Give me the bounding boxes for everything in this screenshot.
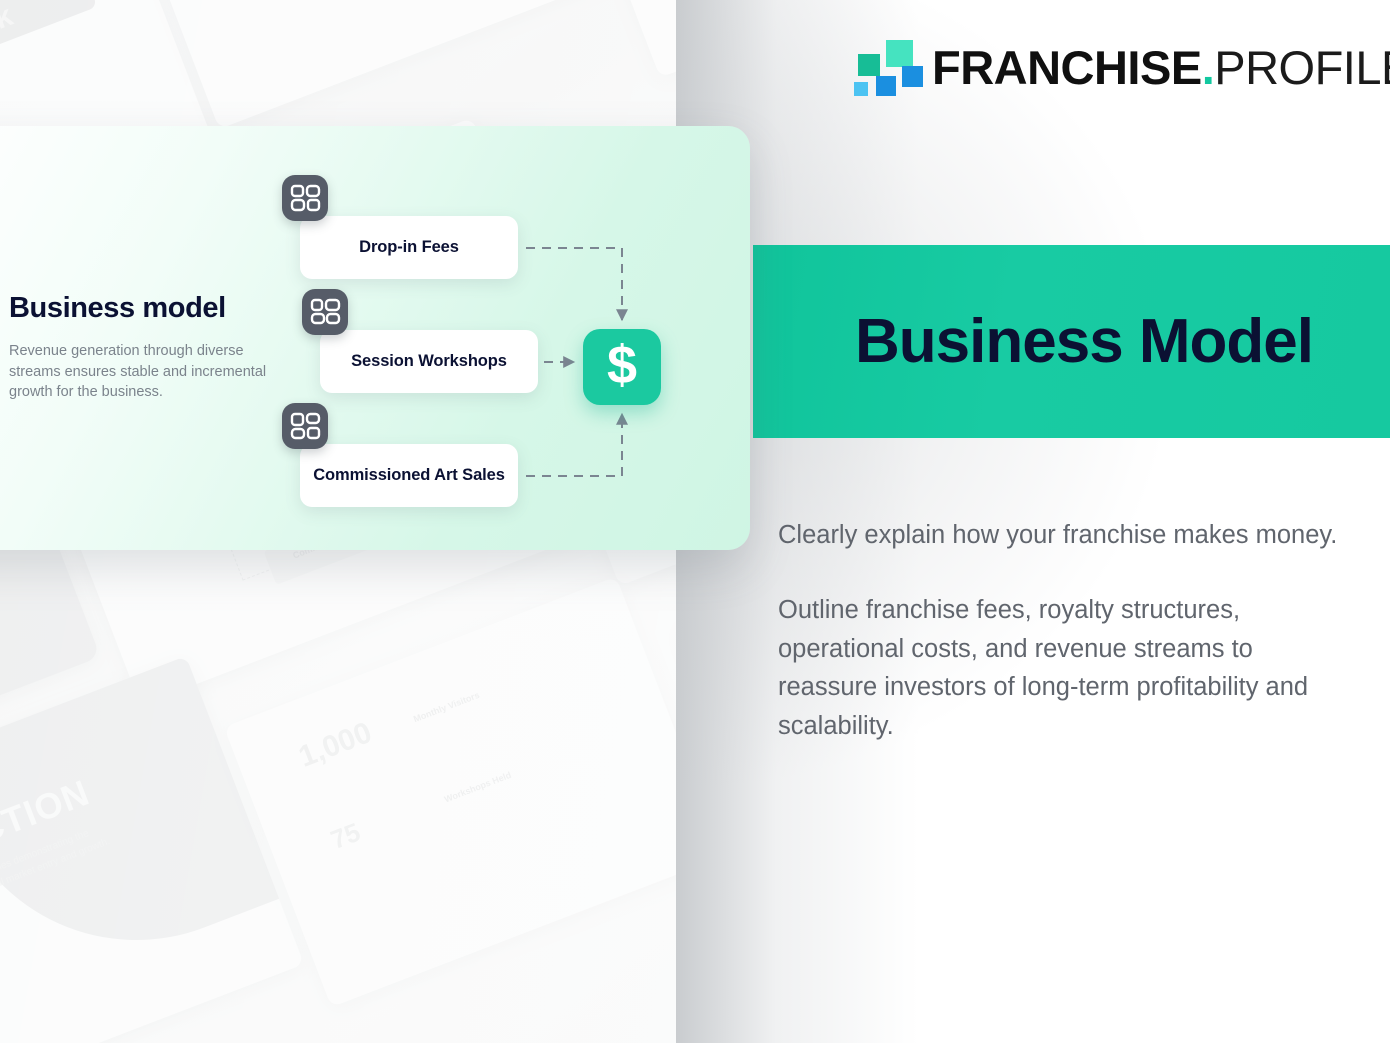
body-paragraph-2: Outline franchise fees, royalty structur…: [778, 591, 1348, 746]
revenue-node-box[interactable]: Drop-in Fees: [300, 216, 518, 279]
card-text-block: Business model Revenue generation throug…: [9, 292, 309, 403]
dollar-sign-icon: $: [607, 338, 637, 392]
stat-value: 1,000: [294, 716, 376, 775]
revenue-node-label: Session Workshops: [351, 351, 507, 371]
business-model-preview-card: Business model Revenue generation throug…: [0, 126, 750, 550]
grid-layout-icon: [282, 175, 328, 221]
brand-wordmark: FRANCHISE.PROFILES: [932, 44, 1390, 91]
revenue-hub-money-icon[interactable]: $: [583, 329, 661, 405]
grid-layout-icon: [282, 403, 328, 449]
card-heading: Business model: [9, 292, 309, 325]
body-copy: Clearly explain how your franchise makes…: [778, 516, 1348, 746]
section-title-band: Business Model: [753, 245, 1390, 438]
brand-name-bold: FRANCHISE: [932, 41, 1202, 94]
brand-logo[interactable]: FRANCHISE.PROFILES: [854, 38, 1390, 96]
slide-stage: ...or pitch deck MARKET Growing demand f…: [0, 0, 1390, 1043]
revenue-node-label: Commissioned Art Sales: [313, 465, 505, 485]
grid-layout-icon: [302, 289, 348, 335]
stat-label: Workshops Held: [443, 770, 513, 805]
deck-slide-problem-points: Lack of Accessibility Limited Resources …: [506, 0, 676, 78]
revenue-node-label: Drop-in Fees: [359, 237, 459, 257]
stat-label: Monthly Visitors: [412, 690, 481, 724]
brand-name-dot: .: [1202, 41, 1215, 94]
body-paragraph-1: Clearly explain how your franchise makes…: [778, 516, 1348, 555]
revenue-streams-diagram: Drop-in Fees Session Workshops: [278, 174, 728, 514]
card-description: Revenue generation through diverse strea…: [9, 341, 299, 403]
logo-squares-icon: [854, 38, 912, 96]
revenue-node-box[interactable]: Commissioned Art Sales: [300, 444, 518, 507]
brand-name-light: PROFILES: [1214, 41, 1390, 94]
revenue-node-box[interactable]: Session Workshops: [320, 330, 538, 393]
stat-value: 75: [327, 817, 365, 856]
right-content-panel: FRANCHISE.PROFILES Business Model Clearl…: [676, 0, 1390, 1043]
page-title: Business Model: [855, 311, 1313, 373]
